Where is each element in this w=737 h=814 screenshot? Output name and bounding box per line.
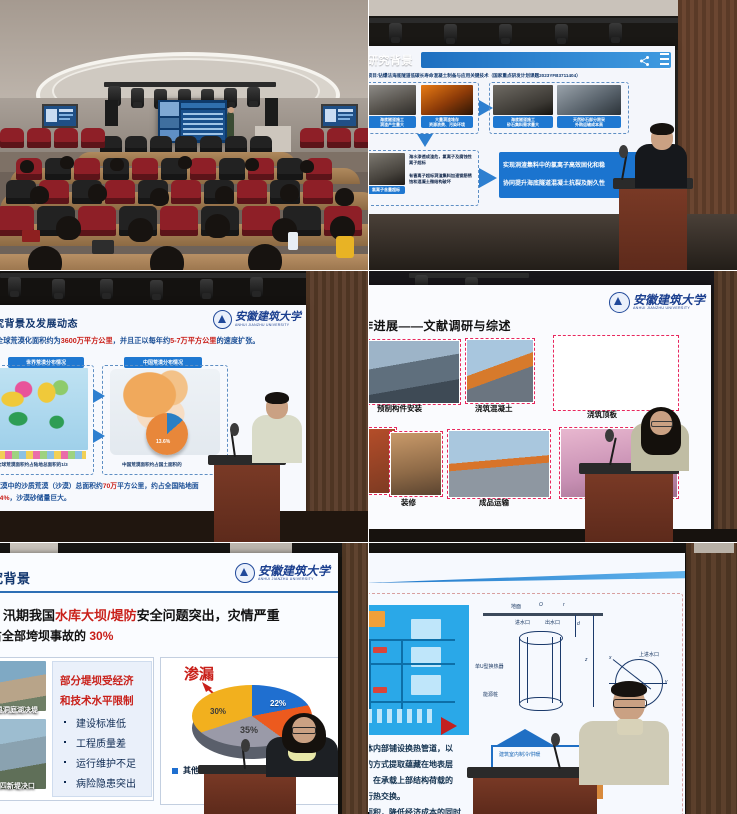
panel-slide-energy-pile-heat-exchanger: 地面 O r 进水口 出水口 单U型换热器 能源桩 z d 上进水口 x: [369, 543, 737, 814]
photo-product-transport: [449, 431, 549, 497]
world-map-image: [0, 368, 88, 450]
microphone-head: [619, 145, 628, 158]
speaker-hair: [611, 681, 647, 697]
reason-bullet-3: 运行维护不足: [76, 755, 136, 770]
stage-lamp: [200, 279, 213, 299]
headline-seg: ，汛期我国: [0, 608, 55, 623]
microphone-head: [241, 739, 250, 752]
podium: [585, 471, 673, 542]
footer-line-1: 荒漠中的沙质荒漠（沙漠）总面积约70万平方公里，约占全国陆地面: [0, 480, 199, 490]
university-name-cn: 安徽建筑大学: [633, 294, 705, 306]
world-map-legend: [0, 451, 86, 459]
podium: [204, 771, 296, 814]
subline: 占全部垮坝事故的 30%: [0, 627, 113, 644]
label-u-heat-exchanger: 单U型换热器: [475, 663, 504, 670]
photo-frame-2: [465, 338, 535, 404]
audience-head: [150, 188, 169, 206]
seat-row: [0, 128, 105, 148]
floor: [369, 529, 737, 542]
right-wall-wood: [686, 543, 737, 814]
tunnel-photo-4: [557, 85, 621, 115]
audience-head: [178, 156, 192, 169]
pie-label-35: 35%: [240, 725, 258, 735]
bullet-dot: [64, 761, 66, 763]
chloride-photo-caption: 氯离子含量超标: [369, 186, 405, 194]
stage-lamp: [555, 24, 568, 44]
hvac-schematic: [369, 605, 469, 735]
symbol-x: x: [609, 655, 612, 661]
reasons-heading-line-1: 部分堤坝受经济: [60, 673, 134, 688]
yellow-bag: [336, 236, 354, 258]
university-logo: 安徽建筑大学 ANHUI JIANZHU UNIVERSITY: [609, 292, 705, 313]
audience-head: [110, 158, 124, 171]
headline-seg: 安全问题突出，灾情严重: [137, 608, 280, 623]
water-bottle: [288, 232, 298, 250]
university-logo: 安徽建筑大学 ANHUI JIANZHU UNIVERSITY: [235, 563, 330, 583]
stage-lamp: [150, 280, 163, 300]
tunnel-photo-1: [369, 85, 416, 115]
china-donut-chart: [146, 413, 188, 455]
body-line-1: 桩体内部铺设换热管道，以: [369, 743, 453, 754]
label-inlet: 进水口: [515, 619, 530, 626]
body-line-2: 化的方式提取蕴藏在地表层: [369, 759, 453, 770]
headline-seg: 5-7万平方公里: [170, 336, 216, 345]
arrow-right-icon-bottom: [93, 429, 105, 443]
university-name-cn: 安徽建筑大学: [258, 565, 330, 577]
side-display-left: [42, 104, 78, 128]
footer-seg: 荒漠中的沙质荒漠（沙漠）总面积约: [0, 483, 103, 490]
footer-seg: 平方公里，约占全国陆地面: [117, 483, 199, 490]
footer-line-2: 7.4%，沙漠砂储量巨大。: [0, 492, 71, 502]
speaker-glasses-icon: [292, 727, 316, 734]
stage-lamp: [52, 279, 65, 299]
photo-frame-5: [389, 431, 443, 497]
subline-seg: 占全部垮坝事故的: [0, 629, 89, 643]
symbol-O: O: [539, 602, 543, 608]
stage-truss: [0, 273, 310, 278]
dam-photo-2-caption: 8涌水四新堤决口: [0, 781, 35, 791]
stage-lamp: [250, 277, 263, 297]
photo-pouring-roof: [555, 337, 677, 409]
body-line-3: 能，在承载上部结构荷载的: [369, 775, 453, 786]
university-logo: 安徽建筑大学 ANHUI JIANZHU UNIVERSITY: [213, 310, 301, 329]
bullet-dot: [64, 721, 66, 723]
speaker-glasses-icon: [651, 421, 673, 427]
photo-caption-1: 预制构件安装: [377, 403, 422, 414]
pile-inner-right: [552, 637, 553, 703]
reason-bullet-4: 病险隐患突出: [76, 775, 136, 790]
panel-slide-research-background-undersea-tunnel: 研究背景 题项目:钻爆法海底隧道低碳长寿命混凝土制备与应用关键技术（国家重点研发…: [369, 0, 737, 270]
symbol-y: y: [665, 679, 668, 685]
title-bar-ticks: [660, 53, 669, 69]
photo-precast-install: [369, 341, 459, 403]
tunnel-photo-1-caption: 海底隧道施工洞渣产生量大: [369, 116, 416, 128]
microphone-head: [230, 423, 239, 436]
table-notepad: [22, 230, 40, 242]
world-map-caption: 全球荒漠面积约占陆地总面积的1/3: [0, 462, 68, 468]
speaker-collar: [617, 719, 643, 735]
stage-lamp: [8, 277, 21, 297]
pile-cylinder-bottom: [519, 697, 563, 711]
bullet-1: 海水渗透成渣危，氯离子及腐蚀性离子超标: [409, 154, 475, 166]
dam-photo-1-caption: 华容县洞庭湖决堤: [0, 705, 38, 715]
photo-pouring-concrete: [467, 340, 533, 402]
slide-title: 究背景及发展动态: [0, 315, 78, 330]
reason-bullet-1: 建设标准低: [76, 715, 126, 730]
legend-label-0: 其他: [183, 765, 199, 776]
reason-bullet-2: 工程质量差: [76, 735, 126, 750]
speaker-cabinet-left: [105, 100, 118, 126]
slide-title-bar: [421, 52, 671, 68]
university-name-cn: 安徽建筑大学: [235, 312, 301, 323]
ceiling-panel-b: [230, 543, 292, 553]
right-wall-wood: [306, 271, 368, 542]
university-seal-icon: [213, 310, 232, 329]
bullet-dot: [64, 781, 66, 783]
slide-title: 作进展——文献调研与综述: [369, 317, 511, 334]
speaker-cabinet-right: [265, 98, 278, 126]
audience-head-foreground: [248, 244, 282, 270]
pile-inner-left: [527, 637, 528, 703]
audience-head: [30, 186, 49, 204]
headline-seg: ，并且正以每年约: [113, 336, 171, 345]
microphone-head: [605, 429, 614, 442]
audience-head: [20, 160, 34, 173]
label-energy-pile: 能源桩: [483, 691, 498, 698]
dam-photo-1: [0, 661, 46, 711]
headline: ，汛期我国水库大坝/堤防安全问题突出，灾情严重: [0, 605, 280, 624]
footer-seg: 70万: [103, 483, 117, 490]
ground-surface-line: [483, 613, 603, 616]
side-display-right: [321, 104, 358, 128]
dam-photo-2: [0, 719, 46, 789]
symbol-z: z: [585, 657, 588, 663]
photo-interior-finishing: [391, 433, 441, 495]
audience-head: [88, 184, 107, 202]
bullet-dot: [64, 741, 66, 743]
title-underline: [0, 591, 338, 593]
arrow-down-icon: [417, 134, 433, 147]
tunnel-photo-4-caption: 天然砂石部分限采外购运输成本高: [557, 116, 621, 128]
stage-presenter: [227, 112, 234, 138]
floor: [0, 511, 368, 542]
photo-frame-3: [553, 335, 679, 411]
photo-caption-2: 浇筑混凝土: [475, 403, 513, 414]
panel-lecture-hall-wide-shot: [0, 0, 368, 270]
conclusion-line-2: 协同提升海底隧道混凝土抗裂及耐久性: [503, 178, 605, 187]
slide-title: 究背景: [0, 568, 31, 587]
pile-wall-left: [519, 637, 520, 703]
tunnel-photo-2: [421, 85, 473, 115]
pie-label-30: 30%: [210, 707, 226, 716]
headline-seg: 全球荒漠化面积约为: [0, 336, 61, 345]
tunnel-photo-3-caption: 海底隧道施工砂石集料需求量大: [493, 116, 553, 128]
pie-label-22: 22%: [270, 699, 286, 708]
right-wall-wood: [342, 543, 368, 814]
headline-seg: 3600万平方公里: [61, 336, 113, 345]
speaker-body: [635, 144, 687, 188]
speaker-hair: [650, 123, 674, 135]
label-outlet: 出水口: [545, 619, 560, 626]
right-wall-wood: [714, 271, 737, 542]
conclusion-box: [499, 152, 639, 198]
panel-slide-literature-review-prefab-construction: 安徽建筑大学 ANHUI JIANZHU UNIVERSITY 作进展——文献调…: [369, 271, 737, 542]
stage-lamp: [100, 279, 113, 299]
headline: 全球荒漠化面积约为3600万平方公里，并且正以每年约5-7万平方公里的速度扩张。: [0, 336, 260, 346]
university-seal-icon: [609, 292, 630, 313]
speaker-glasses-icon: [613, 699, 647, 708]
stage-presenter-head: [228, 107, 234, 113]
audience-head: [300, 160, 314, 173]
legend-swatch-0: [172, 768, 178, 774]
audience-head: [205, 214, 230, 238]
china-donut-value: 13.6%: [156, 439, 170, 445]
podium: [619, 186, 687, 270]
conclusion-line-1: 实现洞渣集料中的氯离子高效固化和稳: [503, 160, 605, 169]
speaker-hair: [265, 392, 289, 404]
slide-title: 研究背景: [369, 52, 413, 68]
seat-row: [0, 206, 362, 236]
stage-lamp: [499, 24, 512, 44]
university-seal-icon: [235, 563, 255, 583]
audience-head: [245, 158, 259, 171]
stage-lamp: [609, 23, 622, 43]
photo-collage-grid: 研究背景 题项目:钻爆法海底隧道低碳长寿命混凝土制备与应用关键技术（国家重点研发…: [0, 0, 737, 812]
red-arrow-icon: [441, 717, 457, 735]
audience-head: [280, 184, 299, 202]
university-name-en: ANHUI JIANZHU UNIVERSITY: [258, 578, 330, 582]
audience-head: [335, 188, 354, 206]
china-map-caption: 中国荒漠面积约占国土面积的: [122, 462, 182, 468]
photo-frame-1: [369, 339, 461, 405]
panel-slide-dam-safety-background: 究背景 安徽建筑大学 ANHUI JIANZHU UNIVERSITY ，汛期我…: [0, 543, 368, 814]
chloride-photo: [369, 153, 405, 185]
footer-seg: 7.4%: [0, 495, 10, 502]
audience-head: [56, 216, 81, 240]
dimension-line-d: [575, 615, 576, 637]
panel-slide-desertification-background: 究背景及发展动态 安徽建筑大学 ANHUI JIANZHU UNIVERSITY…: [0, 271, 368, 542]
footer-seg: ，沙漠砂储量巨大。: [10, 495, 71, 502]
label-indoor-cooling-heating: 建筑室内制冷/供暖: [499, 751, 540, 758]
stage-lamp: [389, 23, 402, 43]
seat-row: [300, 128, 368, 148]
photo-caption-5: 成品运输: [479, 497, 509, 508]
ceiling-light-patch: [694, 543, 734, 553]
stage-lamp: [247, 87, 260, 107]
photo-caption-3: 浇筑顶板: [587, 409, 617, 420]
podium: [214, 463, 280, 542]
headline-seg: 水库大坝/堤防: [55, 608, 137, 623]
university-name-en: ANHUI JIANZHU UNIVERSITY: [235, 324, 301, 327]
label-ground: 地面: [511, 603, 521, 610]
pile-cylinder-top: [519, 631, 563, 645]
tunnel-photo-2-caption: 大量洞渣堆存资源浪费、污染环境: [421, 116, 473, 128]
microphone-head: [551, 733, 560, 746]
audience-head-foreground: [150, 246, 184, 270]
bullet-2: 有害离子超标洞渣集料加速钢筋锈蚀和混凝土微结构破坏: [409, 173, 475, 185]
slide-subtitle: 题项目:钻爆法海底隧道低碳长寿命混凝土制备与应用关键技术（国家重点研发计划课题2…: [369, 73, 581, 79]
dimension-line-z: [593, 615, 594, 707]
body-line-4: 进行热交换。: [369, 791, 405, 802]
arrow-right-icon-top: [93, 389, 105, 403]
speaker-body: [252, 415, 302, 463]
symbol-r: r: [563, 602, 565, 608]
reasons-heading-line-2: 和技术水平限制: [60, 693, 134, 708]
arrow-right-icon-2: [479, 168, 497, 188]
audience-head: [215, 186, 234, 204]
stage-lamp: [131, 88, 144, 108]
label-upper-inlet: 上进水口: [639, 651, 659, 658]
photo-frame-6: [447, 429, 551, 499]
stage-truss: [369, 18, 699, 23]
headline-seg: 的速度扩张。: [216, 336, 259, 345]
subline-seg: 30%: [89, 629, 113, 643]
share-icon: [638, 54, 651, 66]
tunnel-photo-3: [493, 85, 553, 115]
audience-head: [128, 218, 153, 242]
table-tablet: [92, 240, 114, 254]
body-line-5: 地面积，降低经济成本的同时: [369, 807, 461, 814]
photo-caption-4: 装修: [401, 497, 416, 508]
university-name-en: ANHUI JIANZHU UNIVERSITY: [633, 307, 705, 311]
roof-icon: [497, 729, 553, 745]
stage-lamp: [444, 24, 457, 44]
audience-head: [60, 156, 74, 169]
audience-head-foreground: [28, 246, 62, 270]
symbol-d: d: [577, 621, 580, 627]
slide-header-swoosh: [369, 571, 685, 583]
pile-wall-right: [560, 637, 561, 703]
